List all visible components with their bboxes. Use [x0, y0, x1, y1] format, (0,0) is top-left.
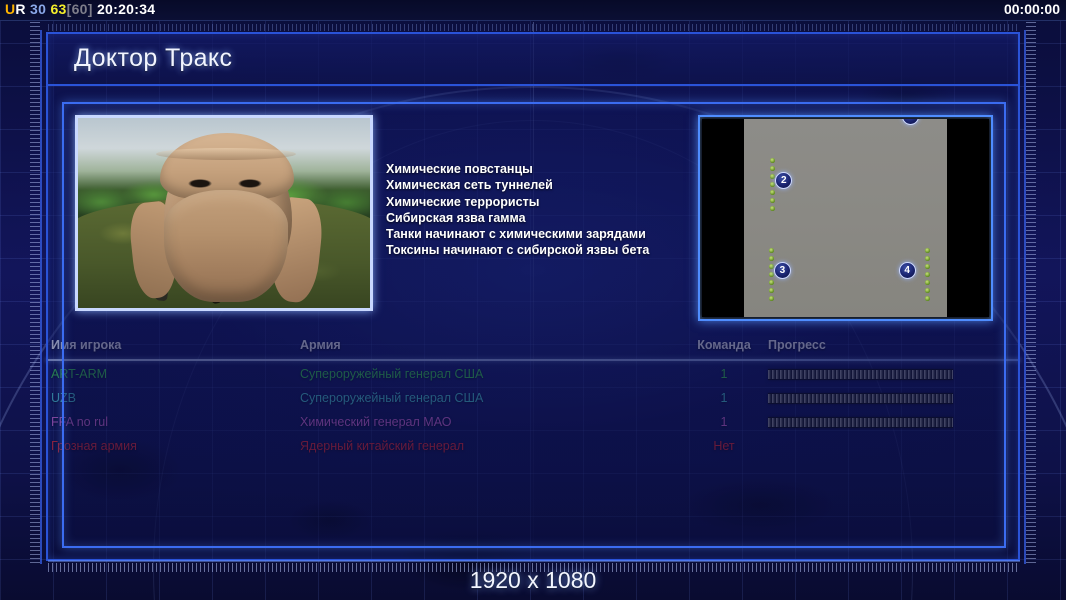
content-panel: Химические повстанцы Химическая сеть тун…: [62, 102, 1006, 548]
resolution-label: 1920 x 1080: [0, 567, 1066, 594]
minimap-start-position-marker[interactable]: 3: [774, 262, 791, 279]
minimap-tree-icon: [769, 256, 774, 261]
title-band: Доктор Тракс: [48, 34, 1018, 86]
minimap-canvas[interactable]: 1234: [702, 119, 989, 317]
description-line: Сибирская язва гамма: [386, 210, 706, 226]
minimap-tree-icon: [769, 296, 774, 301]
status-bracket-value: [60]: [67, 1, 93, 17]
ruler-top: [48, 24, 1020, 31]
status-prefix-u: U: [5, 1, 15, 17]
page-title: Доктор Тракс: [74, 44, 232, 73]
minimap-tree-icon: [925, 288, 930, 293]
portrait-eyes: [177, 177, 273, 190]
minimap-tree-icon: [769, 288, 774, 293]
description-line: Химические повстанцы: [386, 161, 706, 177]
status-prefix-r: R: [15, 1, 25, 17]
minimap-tree-icon: [925, 264, 930, 269]
minimap-tree-icon: [769, 272, 774, 277]
minimap-tree-icon: [925, 280, 930, 285]
game-lobby-screen: UR 30 63[60] 20:20:34 00:00:00 Доктор Тр…: [0, 0, 1066, 600]
portrait-face-mask: [164, 190, 288, 302]
frame-line-right: [1024, 30, 1026, 564]
status-bar: UR 30 63[60] 20:20:34 00:00:00: [0, 0, 1066, 21]
main-panel: Доктор Тракс: [46, 32, 1020, 561]
description-line: Химические террористы: [386, 194, 706, 210]
minimap-start-position-marker[interactable]: 4: [899, 262, 916, 279]
minimap-tree-icon: [770, 166, 775, 171]
map-preview[interactable]: 1234: [698, 115, 993, 321]
status-clock: 20:20:34: [97, 1, 155, 17]
minimap-tree-icon: [770, 206, 775, 211]
status-value-1: 30: [30, 1, 46, 17]
ruler-right: [1026, 22, 1036, 564]
minimap-tree-icon: [770, 158, 775, 163]
frame-line-left: [40, 30, 42, 564]
minimap-tree-icon: [770, 198, 775, 203]
description-line: Токсины начинают с сибирской язвы бета: [386, 242, 706, 258]
minimap-tree-icon: [769, 248, 774, 253]
minimap-tree-icon: [925, 296, 930, 301]
minimap-tree-icon: [769, 280, 774, 285]
minimap-tree-icon: [769, 264, 774, 269]
ruler-left: [30, 22, 40, 564]
status-bar-left: UR 30 63[60] 20:20:34: [5, 1, 155, 17]
status-timer: 00:00:00: [1004, 1, 1060, 17]
status-value-2: 63: [50, 1, 66, 17]
minimap-tree-icon: [925, 272, 930, 277]
general-portrait: [75, 115, 373, 311]
portrait-image: [78, 118, 370, 308]
description-line: Химическая сеть туннелей: [386, 177, 706, 193]
minimap-tree-icon: [925, 248, 930, 253]
general-description: Химические повстанцы Химическая сеть тун…: [386, 161, 706, 259]
minimap-tree-icon: [925, 256, 930, 261]
minimap-tree-cluster: [922, 248, 934, 301]
minimap-tree-icon: [770, 190, 775, 195]
description-line: Танки начинают с химическими зарядами: [386, 226, 706, 242]
